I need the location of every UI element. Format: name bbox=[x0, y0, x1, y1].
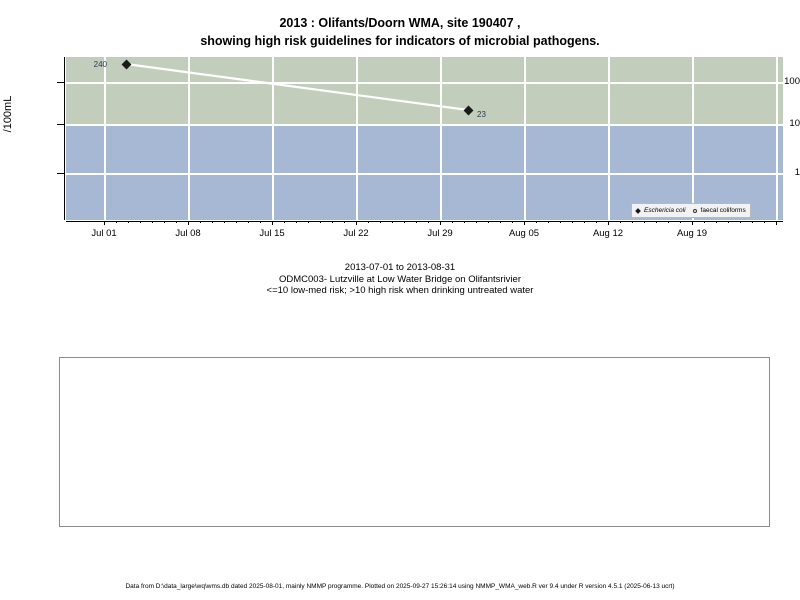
x-axis-minor-tick bbox=[716, 221, 717, 223]
y-axis-title: /100mL bbox=[2, 84, 14, 144]
caption-site: ODMC003- Lutzville at Low Water Bridge o… bbox=[0, 274, 800, 286]
x-axis-minor-tick bbox=[308, 221, 309, 223]
x-axis-tick-label: Aug 19 bbox=[662, 228, 722, 239]
x-axis-minor-tick bbox=[632, 221, 633, 223]
x-axis-minor-tick bbox=[500, 221, 501, 223]
legend-label: faecal coliforms bbox=[701, 207, 746, 215]
plot-panel-background: 240 23 bbox=[66, 57, 783, 220]
x-axis-tick-label: Aug 12 bbox=[578, 228, 638, 239]
x-axis-minor-tick bbox=[596, 221, 597, 223]
x-axis-tick bbox=[188, 221, 189, 225]
x-axis-minor-tick bbox=[680, 221, 681, 223]
x-axis-minor-tick bbox=[572, 221, 573, 223]
high-risk-band bbox=[66, 57, 783, 124]
y-axis-tick-label: 100 bbox=[748, 77, 800, 87]
y-axis-tick bbox=[57, 173, 64, 174]
x-axis-tick-label: Jul 01 bbox=[74, 228, 134, 239]
x-axis-minor-tick bbox=[584, 221, 585, 223]
x-axis-minor-tick bbox=[416, 221, 417, 223]
y-axis-tick-label: 1 bbox=[748, 168, 800, 178]
data-point-label: 240 bbox=[94, 60, 107, 69]
x-axis-minor-tick bbox=[380, 221, 381, 223]
chart-caption: 2013-07-01 to 2013-08-31 ODMC003- Lutzvi… bbox=[0, 262, 800, 297]
x-axis-minor-tick bbox=[296, 221, 297, 223]
y-axis-tick bbox=[57, 82, 64, 83]
x-axis-tick bbox=[776, 221, 777, 225]
x-axis-minor-tick bbox=[620, 221, 621, 223]
caption-period: 2013-07-01 to 2013-08-31 bbox=[0, 262, 800, 274]
filled-diamond-icon bbox=[635, 208, 641, 214]
x-axis-minor-tick bbox=[344, 221, 345, 223]
footer-note: Data from D:\data_large\wq\wms.db dated … bbox=[0, 582, 800, 591]
legend-item-faecal-coliforms[interactable]: faecal coliforms bbox=[693, 207, 746, 215]
x-axis-tick bbox=[608, 221, 609, 225]
x-axis-tick bbox=[524, 221, 525, 225]
legend-label: Eschericia coli bbox=[644, 207, 686, 215]
chart-legend: Eschericia coli faecal coliforms bbox=[631, 203, 751, 218]
x-axis-tick bbox=[440, 221, 441, 225]
x-axis-tick bbox=[692, 221, 693, 225]
x-axis-minor-tick bbox=[548, 221, 549, 223]
x-axis-minor-tick bbox=[656, 221, 657, 223]
x-axis-minor-tick bbox=[428, 221, 429, 223]
legend-item-eschericia-coli[interactable]: Eschericia coli bbox=[636, 207, 686, 215]
x-axis-minor-tick bbox=[128, 221, 129, 223]
x-axis-tick bbox=[356, 221, 357, 225]
x-axis-minor-tick bbox=[644, 221, 645, 223]
x-axis-minor-tick bbox=[212, 221, 213, 223]
x-axis-tick-label: Jul 22 bbox=[326, 228, 386, 239]
x-axis-minor-tick bbox=[392, 221, 393, 223]
x-axis-minor-tick bbox=[236, 221, 237, 223]
x-axis-minor-tick bbox=[116, 221, 117, 223]
gridline-horizontal bbox=[66, 173, 783, 175]
data-point-label: 23 bbox=[477, 110, 486, 119]
x-axis-minor-tick bbox=[728, 221, 729, 223]
x-axis-minor-tick bbox=[200, 221, 201, 223]
x-axis-minor-tick bbox=[740, 221, 741, 223]
x-axis-minor-tick bbox=[704, 221, 705, 223]
x-axis-minor-tick bbox=[332, 221, 333, 223]
x-axis-minor-tick bbox=[668, 221, 669, 223]
y-axis-tick bbox=[57, 124, 64, 125]
x-axis-minor-tick bbox=[452, 221, 453, 223]
x-axis-minor-tick bbox=[752, 221, 753, 223]
x-axis-tick-label: Aug 05 bbox=[494, 228, 554, 239]
x-axis-minor-tick bbox=[284, 221, 285, 223]
x-axis-minor-tick bbox=[536, 221, 537, 223]
y-axis-tick-label: 10 bbox=[748, 119, 800, 129]
x-axis-tick bbox=[272, 221, 273, 225]
x-axis-minor-tick bbox=[140, 221, 141, 223]
x-axis-minor-tick bbox=[248, 221, 249, 223]
x-axis-tick bbox=[104, 221, 105, 225]
x-axis-minor-tick bbox=[164, 221, 165, 223]
x-axis-minor-tick bbox=[260, 221, 261, 223]
x-axis-minor-tick bbox=[488, 221, 489, 223]
x-axis-minor-tick bbox=[152, 221, 153, 223]
chart-plot-area: 240 23 Eschericia coli faecal coliforms … bbox=[0, 0, 800, 320]
x-axis-minor-tick bbox=[512, 221, 513, 223]
x-axis-line bbox=[66, 221, 783, 222]
open-circle-icon bbox=[693, 209, 697, 213]
x-axis-minor-tick bbox=[224, 221, 225, 223]
y-axis-line bbox=[64, 57, 65, 220]
caption-risk-note: <=10 low-med risk; >10 high risk when dr… bbox=[0, 285, 800, 297]
x-axis-minor-tick bbox=[368, 221, 369, 223]
x-axis-minor-tick bbox=[176, 221, 177, 223]
x-axis-tick-label: Jul 15 bbox=[242, 228, 302, 239]
x-axis-minor-tick bbox=[464, 221, 465, 223]
empty-panel-box bbox=[59, 357, 770, 527]
gridline-horizontal bbox=[66, 124, 783, 126]
x-axis-minor-tick bbox=[560, 221, 561, 223]
x-axis-minor-tick bbox=[764, 221, 765, 223]
gridline-horizontal bbox=[66, 82, 783, 84]
x-axis-minor-tick bbox=[320, 221, 321, 223]
x-axis-tick-label: Jul 29 bbox=[410, 228, 470, 239]
x-axis-tick-label: Jul 08 bbox=[158, 228, 218, 239]
x-axis-minor-tick bbox=[404, 221, 405, 223]
x-axis-minor-tick bbox=[476, 221, 477, 223]
